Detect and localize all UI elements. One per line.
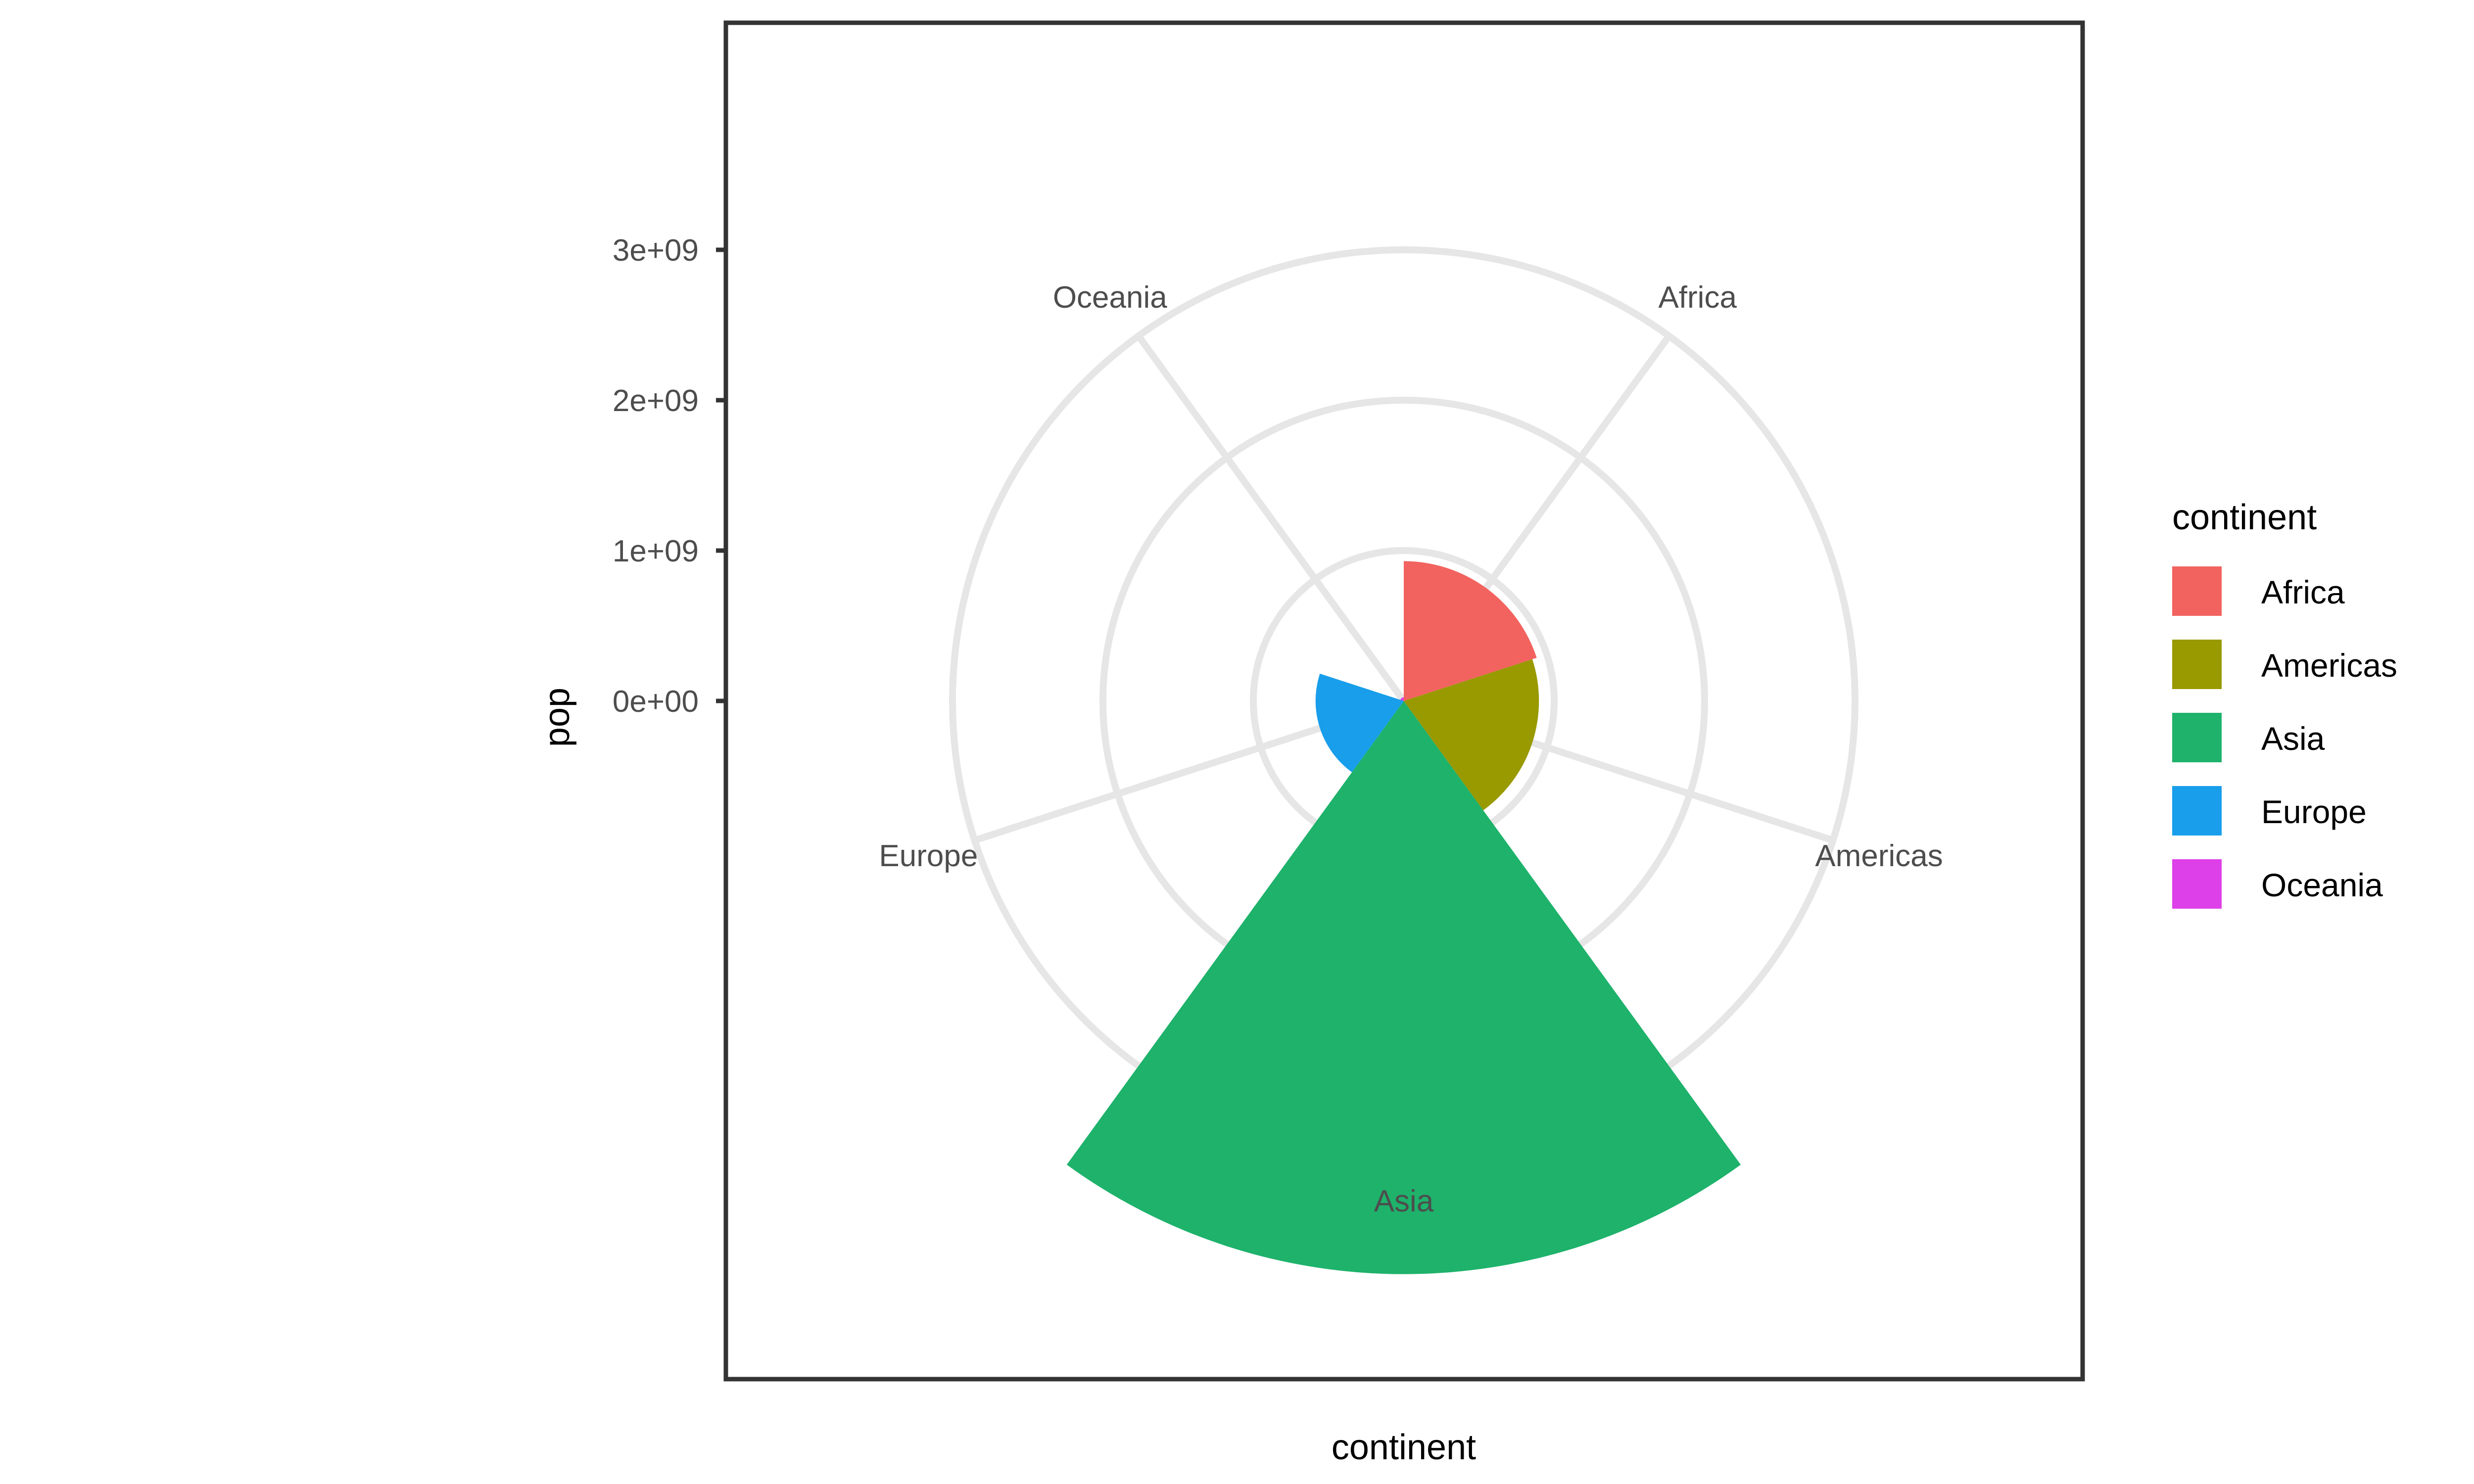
spoke-label-oceania: Oceania (1053, 280, 1167, 315)
legend-swatch-asia[interactable] (2172, 713, 2222, 762)
y-tick-label-2e09: 2e+09 (613, 384, 699, 418)
legend-item-americas[interactable]: Americas (2172, 640, 2397, 689)
legend-label-europe: Europe (2261, 793, 2367, 830)
legend-label-asia: Asia (2261, 720, 2325, 757)
x-axis-title: continent (1332, 1428, 1476, 1467)
legend-item-europe[interactable]: Europe (2172, 786, 2367, 835)
legend-swatch-africa[interactable] (2172, 566, 2222, 616)
y-axis-title: pop (537, 688, 577, 747)
polar-chart-svg: Africa Americas Asia Europe Oceania 3e+0… (0, 0, 2474, 1484)
spoke-label-europe: Europe (879, 839, 978, 873)
plot-panel: Africa Americas Asia Europe Oceania (726, 23, 2083, 1379)
chart-root: Africa Americas Asia Europe Oceania 3e+0… (0, 0, 2474, 1484)
legend-label-oceania: Oceania (2261, 867, 2383, 903)
y-tick-label-0e00: 0e+00 (613, 685, 699, 719)
legend-label-americas: Americas (2261, 647, 2397, 684)
legend-item-oceania[interactable]: Oceania (2172, 859, 2383, 909)
spoke-label-americas: Americas (1815, 839, 1943, 873)
legend-title: continent (2172, 498, 2317, 537)
legend-swatch-americas[interactable] (2172, 640, 2222, 689)
spoke-label-asia: Asia (1374, 1184, 1434, 1218)
y-tick-label-3e09: 3e+09 (613, 233, 699, 268)
y-tick-label-1e09: 1e+09 (613, 534, 699, 568)
legend-swatch-oceania[interactable] (2172, 859, 2222, 909)
legend-swatch-europe[interactable] (2172, 786, 2222, 835)
spoke-label-africa: Africa (1658, 280, 1737, 315)
legend-label-africa: Africa (2261, 574, 2345, 610)
